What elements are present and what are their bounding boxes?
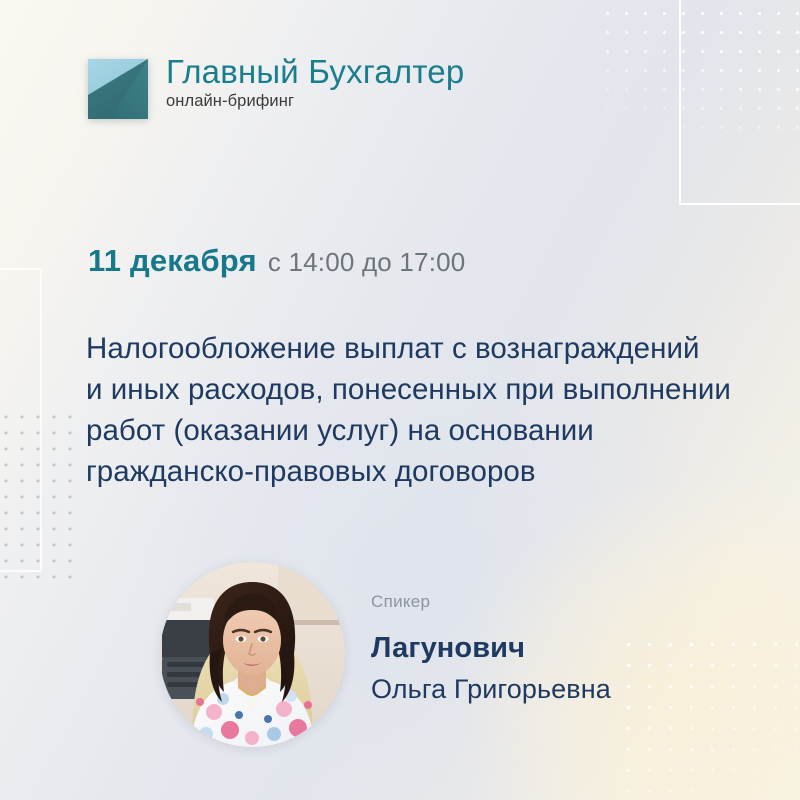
speaker-given-name: Ольга Григорьевна bbox=[371, 674, 611, 705]
event-datetime: 11 декабря с 14:00 до 17:00 bbox=[88, 243, 465, 279]
event-title: Налогообложение выплат с вознаграждений … bbox=[86, 328, 776, 492]
dot-grid-top-right bbox=[592, 0, 800, 140]
speaker-label: Спикер bbox=[371, 592, 611, 612]
event-date: 11 декабря bbox=[88, 243, 257, 279]
event-title-line: работ (оказании услуг) на основании bbox=[86, 410, 776, 451]
folded-square-logo-icon bbox=[88, 59, 148, 119]
dot-grid-left bbox=[0, 405, 74, 585]
promo-poster: Главный Бухгалтер онлайн-брифинг 11 дека… bbox=[0, 0, 800, 800]
event-time: с 14:00 до 17:00 bbox=[268, 247, 466, 278]
speaker-avatar bbox=[160, 562, 345, 747]
event-title-line: Налогообложение выплат с вознаграждений bbox=[86, 328, 776, 369]
event-title-line: гражданско-правовых договоров bbox=[86, 451, 776, 492]
dot-grid-bottom-right bbox=[610, 628, 800, 800]
speaker-portrait-illustration bbox=[160, 562, 345, 747]
decorative-frame-top-right bbox=[679, 0, 800, 205]
brand-subtitle: онлайн-брифинг bbox=[166, 92, 464, 111]
decorative-frame-left bbox=[0, 268, 42, 572]
speaker-details: Спикер Лагунович Ольга Григорьевна bbox=[371, 592, 611, 705]
brand-logo[interactable]: Главный Бухгалтер онлайн-брифинг bbox=[88, 55, 464, 119]
brand-title: Главный Бухгалтер bbox=[166, 55, 464, 89]
event-title-line: и иных расходов, понесенных при выполнен… bbox=[86, 369, 776, 410]
speaker-surname: Лагунович bbox=[371, 632, 611, 665]
